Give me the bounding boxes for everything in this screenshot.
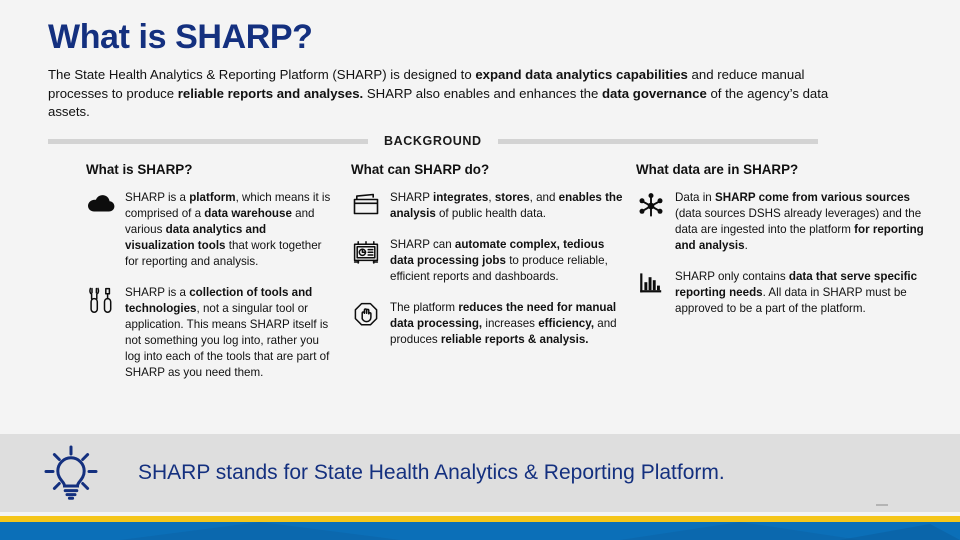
divider-label: BACKGROUND	[378, 134, 488, 148]
cloud-icon	[86, 190, 116, 222]
divider-rule-left	[48, 139, 368, 144]
divider-rule-right	[498, 139, 818, 144]
list-item: SHARP only contains data that serve spec…	[636, 269, 926, 317]
banner-corner-dash	[876, 504, 888, 506]
column-heading: What is SHARP?	[86, 162, 336, 177]
folder-icon	[351, 190, 381, 222]
section-divider: BACKGROUND	[48, 132, 914, 150]
list-item-text: SHARP only contains data that serve spec…	[675, 269, 926, 317]
column-what-is-sharp: What is SHARP? SHARP is a platform, whic…	[48, 162, 336, 396]
column-what-data-are-in-sharp: What data are in SHARP?	[626, 162, 926, 396]
bar-chart-icon	[636, 269, 666, 301]
column-what-can-sharp-do: What can SHARP do? SHARP integrates, sto…	[336, 162, 626, 396]
presentation-chart-icon	[351, 237, 381, 269]
list-item: The platform reduces the need for manual…	[351, 300, 626, 348]
list-item: SHARP integrates, stores, and enables th…	[351, 190, 626, 222]
callout-banner: SHARP stands for State Health Analytics …	[0, 434, 960, 512]
list-item: SHARP is a platform, which means it is c…	[86, 190, 336, 270]
page-title: What is SHARP?	[48, 18, 313, 57]
list-item-text: SHARP can automate complex, tedious data…	[390, 237, 626, 285]
banner-text: SHARP stands for State Health Analytics …	[138, 460, 725, 485]
column-heading: What can SHARP do?	[351, 162, 626, 177]
list-item-text: SHARP is a collection of tools and techn…	[125, 285, 336, 381]
intro-paragraph: The State Health Analytics & Reporting P…	[48, 66, 854, 122]
column-heading: What data are in SHARP?	[636, 162, 926, 177]
list-item: Data in SHARP come from various sources …	[636, 190, 926, 254]
footer-blue-band	[0, 522, 960, 540]
lightbulb-icon	[38, 440, 104, 506]
list-item-text: SHARP integrates, stores, and enables th…	[390, 190, 626, 222]
tools-icon	[86, 285, 116, 317]
network-hub-icon	[636, 190, 666, 222]
list-item-text: The platform reduces the need for manual…	[390, 300, 626, 348]
content-columns: What is SHARP? SHARP is a platform, whic…	[48, 162, 932, 396]
slide-canvas: What is SHARP? The State Health Analytic…	[0, 0, 960, 540]
list-item-text: Data in SHARP come from various sources …	[675, 190, 926, 254]
stop-hand-icon	[351, 300, 381, 332]
list-item: SHARP is a collection of tools and techn…	[86, 285, 336, 381]
list-item-text: SHARP is a platform, which means it is c…	[125, 190, 336, 270]
list-item: SHARP can automate complex, tedious data…	[351, 237, 626, 285]
